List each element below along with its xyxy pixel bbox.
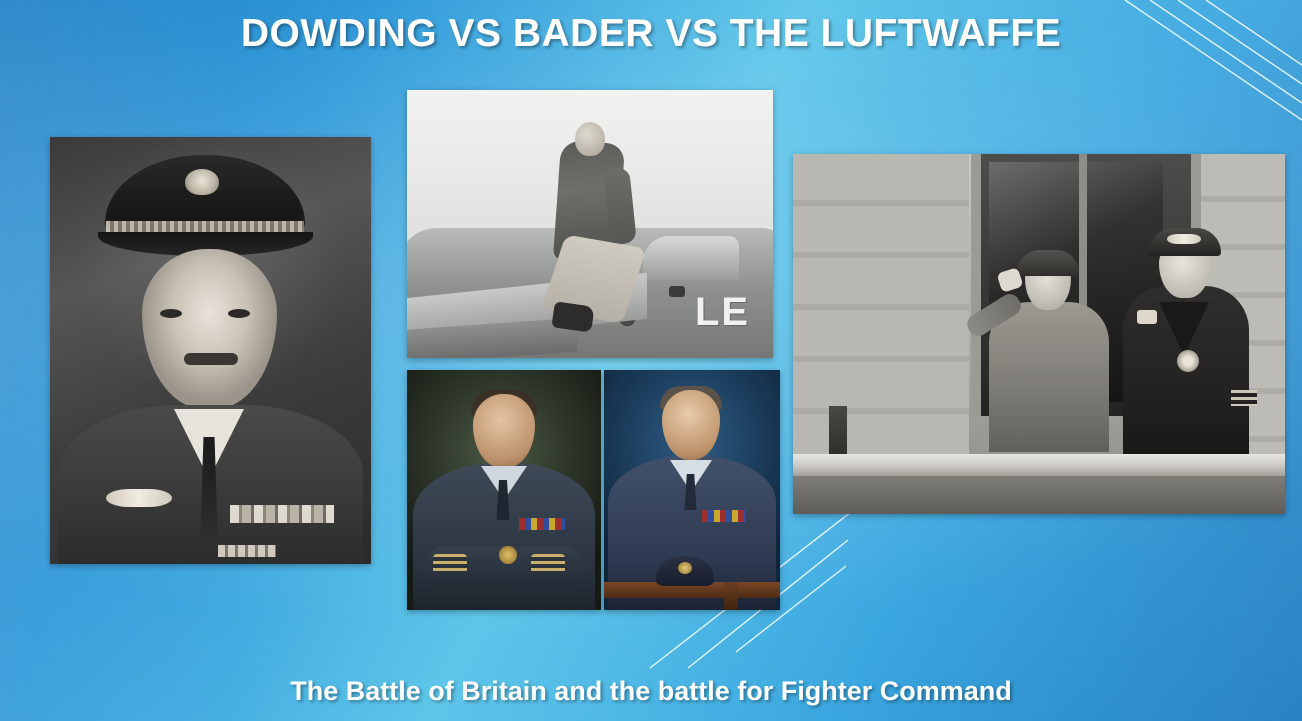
dowding-portrait-photo xyxy=(50,137,371,564)
pilot-boot-shape xyxy=(551,301,594,332)
saluting-officer-body-shape xyxy=(989,302,1109,452)
medal-star-shape xyxy=(1177,350,1199,372)
slide-subtitle: The Battle of Britain and the battle for… xyxy=(0,676,1302,707)
medal-ribbons-shape xyxy=(519,518,565,530)
balcony-ledge-shape xyxy=(793,454,1285,478)
breast-decoration-shape xyxy=(1137,310,1157,324)
face-shape xyxy=(662,390,720,460)
raf-officer-with-cap-portrait xyxy=(604,370,780,610)
portrait1-content xyxy=(407,370,601,610)
pilot-wings-badge-shape xyxy=(106,489,172,507)
aircraft-canopy-shape xyxy=(643,236,739,280)
medal-ribbons-shape xyxy=(702,510,746,522)
cap-badge-shape xyxy=(185,169,219,195)
left-eye-shape xyxy=(160,309,182,318)
raf-officer-arms-folded-portrait xyxy=(407,370,601,610)
secondary-medal-ribbons-shape xyxy=(218,545,276,557)
right-rank-cuff-shape xyxy=(531,554,565,574)
neck-medal-shape xyxy=(499,546,517,564)
uniform-cuff-shape xyxy=(1231,390,1257,406)
bader-photo-content: LE xyxy=(407,90,773,358)
right-eye-shape xyxy=(228,309,250,318)
hitler-and-goering-balcony-photo xyxy=(793,154,1285,514)
balcony-ledge-shadow-shape xyxy=(793,476,1285,514)
cap-badge-shape xyxy=(678,562,692,574)
face-shape xyxy=(473,394,535,468)
portrait2-content xyxy=(604,370,780,610)
face-shape xyxy=(142,249,277,409)
fuselage-panel-shape xyxy=(669,286,685,297)
moustache-shape xyxy=(184,353,238,365)
eagle-cap-insignia-shape xyxy=(1167,234,1201,244)
balcony-post-shape xyxy=(829,406,847,458)
pilot-head-shape xyxy=(575,122,605,156)
chair-post-shape xyxy=(724,582,738,610)
bader-on-hurricane-photo: LE xyxy=(407,90,773,358)
left-rank-cuff-shape xyxy=(433,554,467,574)
aircraft-code-marking: LE xyxy=(695,290,750,335)
medal-ribbons-shape xyxy=(230,505,334,523)
dowding-photo-content xyxy=(50,137,371,564)
presentation-slide: DOWDING VS BADER VS THE LUFTWAFFE xyxy=(0,0,1302,721)
saluting-officer-cap-shape xyxy=(1017,250,1079,276)
slide-title: DOWDING VS BADER VS THE LUFTWAFFE xyxy=(0,12,1302,56)
balcony-photo-content xyxy=(793,154,1285,514)
